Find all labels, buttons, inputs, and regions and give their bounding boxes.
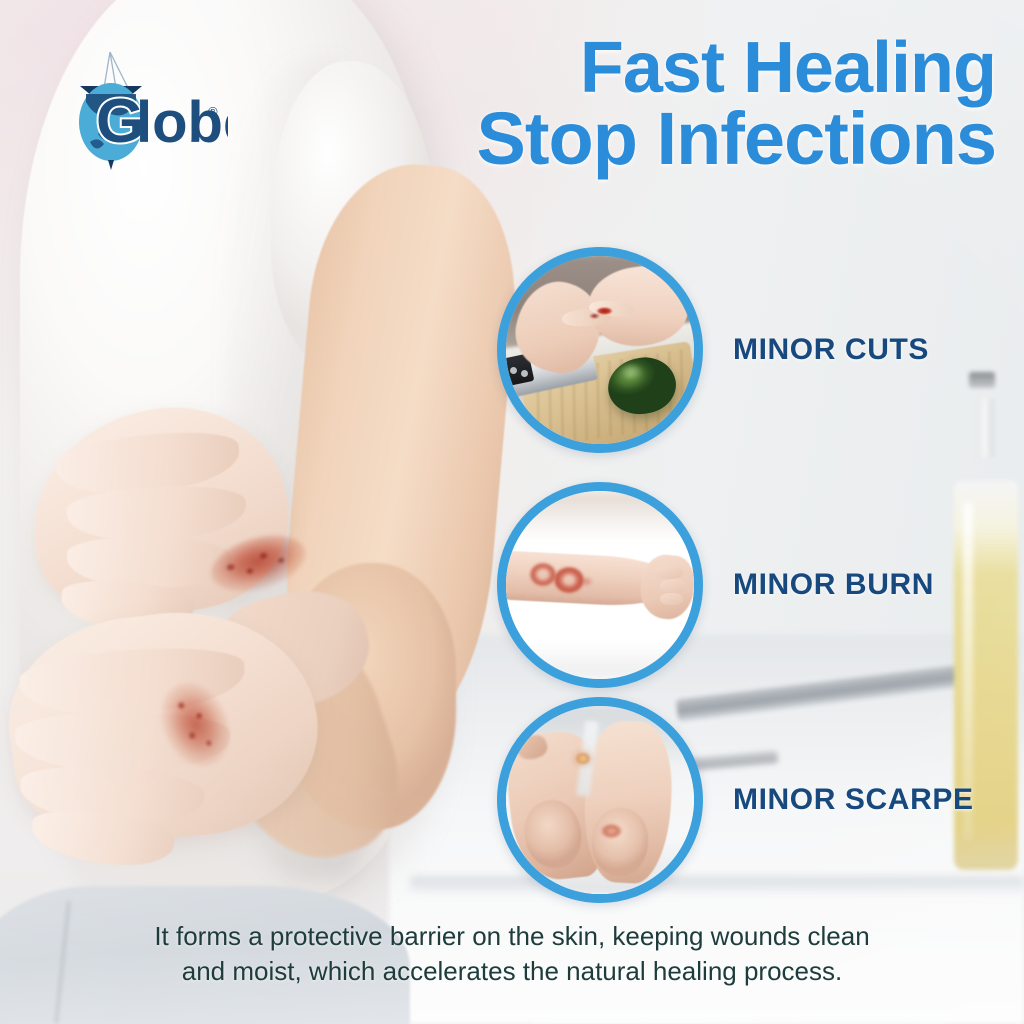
feature-image-minor-scrape [497, 697, 703, 903]
headline: Fast Healing Stop Infections [477, 34, 996, 174]
brand-trademark-symbol: ® [208, 104, 218, 119]
feature-item-minor-burn[interactable]: MINOR BURN [497, 482, 934, 688]
balloon-ropes-icon [104, 52, 128, 88]
caption-line-2: and moist, which accelerates the natural… [80, 954, 944, 988]
caption-line-1: It forms a protective barrier on the ski… [80, 919, 944, 953]
feature-image-minor-cuts [497, 247, 703, 453]
caption: It forms a protective barrier on the ski… [0, 919, 1024, 988]
feature-label-minor-burn: MINOR BURN [733, 568, 934, 602]
brand-wordmark-lobe: lobe [136, 90, 228, 155]
feature-image-minor-burn [497, 482, 703, 688]
burn-wound-icon [577, 574, 596, 589]
product-ad-poster: G lobe ® Fast Healing Stop Infections [0, 0, 1024, 1024]
brand-logo[interactable]: G lobe ® [58, 42, 228, 172]
blister-wound-icon [600, 823, 623, 840]
feature-item-minor-scrape[interactable]: MINOR SCARPE [497, 697, 974, 903]
headline-line-2: Stop Infections [477, 103, 996, 174]
feature-item-minor-cuts[interactable]: MINOR CUTS [497, 247, 929, 453]
feature-label-minor-cuts: MINOR CUTS [733, 333, 929, 367]
feature-label-minor-scrape: MINOR SCARPE [733, 783, 974, 817]
headline-line-1: Fast Healing [477, 34, 996, 103]
balloon-tail-icon [108, 160, 114, 170]
